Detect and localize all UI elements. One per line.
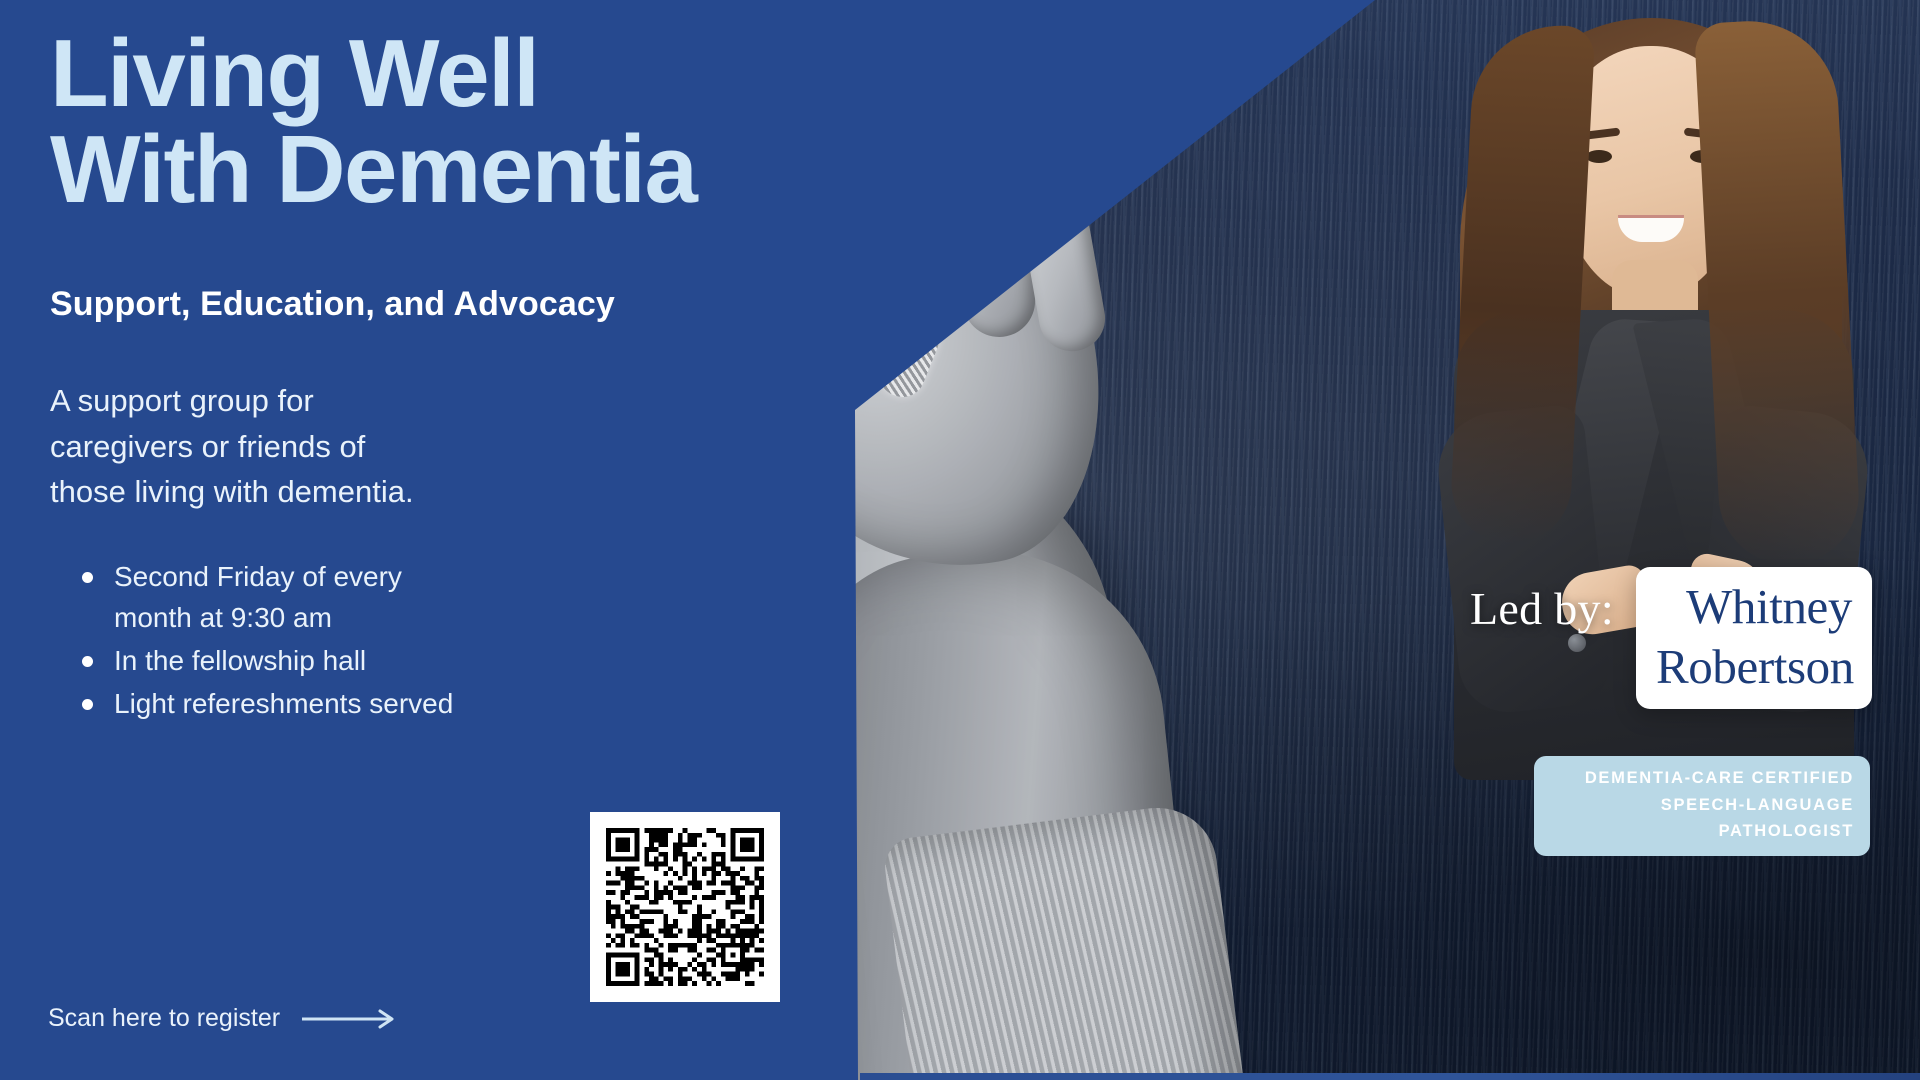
credentials-badge: DEMENTIA-CARE CERTIFIED SPEECH-LANGUAGE … (1534, 756, 1870, 856)
list-item: Second Friday of every month at 9:30 am (76, 556, 476, 638)
presenter-name-card: Whitney Robertson (1636, 567, 1872, 709)
description-paragraph: A support group for caregivers or friend… (50, 378, 414, 515)
qr-code-image (606, 828, 764, 986)
poster-canvas: Living Well With Dementia Support, Educa… (0, 0, 1920, 1080)
eye-left (1586, 150, 1612, 163)
arrow-right-icon (302, 1008, 398, 1030)
scan-instruction-label: Scan here to register (48, 1004, 280, 1033)
subtitle: Support, Education, and Advocacy (50, 285, 615, 324)
credential-line: PATHOLOGIST (1550, 818, 1854, 845)
hair-front-right (1694, 17, 1862, 569)
led-by-label: Led by: (1470, 582, 1614, 635)
credential-line: DEMENTIA-CARE CERTIFIED (1550, 765, 1854, 792)
list-item: Light refereshments served (76, 683, 476, 724)
presenter-first-name: Whitney (1656, 577, 1852, 637)
page-title: Living Well With Dementia (50, 26, 696, 218)
scan-cta: Scan here to register (48, 1004, 398, 1033)
presenter-last-name: Robertson (1656, 637, 1852, 697)
sweater-cuff (882, 801, 1249, 1080)
list-item: In the fellowship hall (76, 640, 476, 681)
qr-code[interactable] (590, 812, 780, 1002)
details-list: Second Friday of every month at 9:30 am … (76, 556, 476, 727)
credential-line: SPEECH-LANGUAGE (1550, 792, 1854, 819)
bottom-accent-strip (860, 1073, 1920, 1080)
sleeve-button (1568, 634, 1586, 652)
